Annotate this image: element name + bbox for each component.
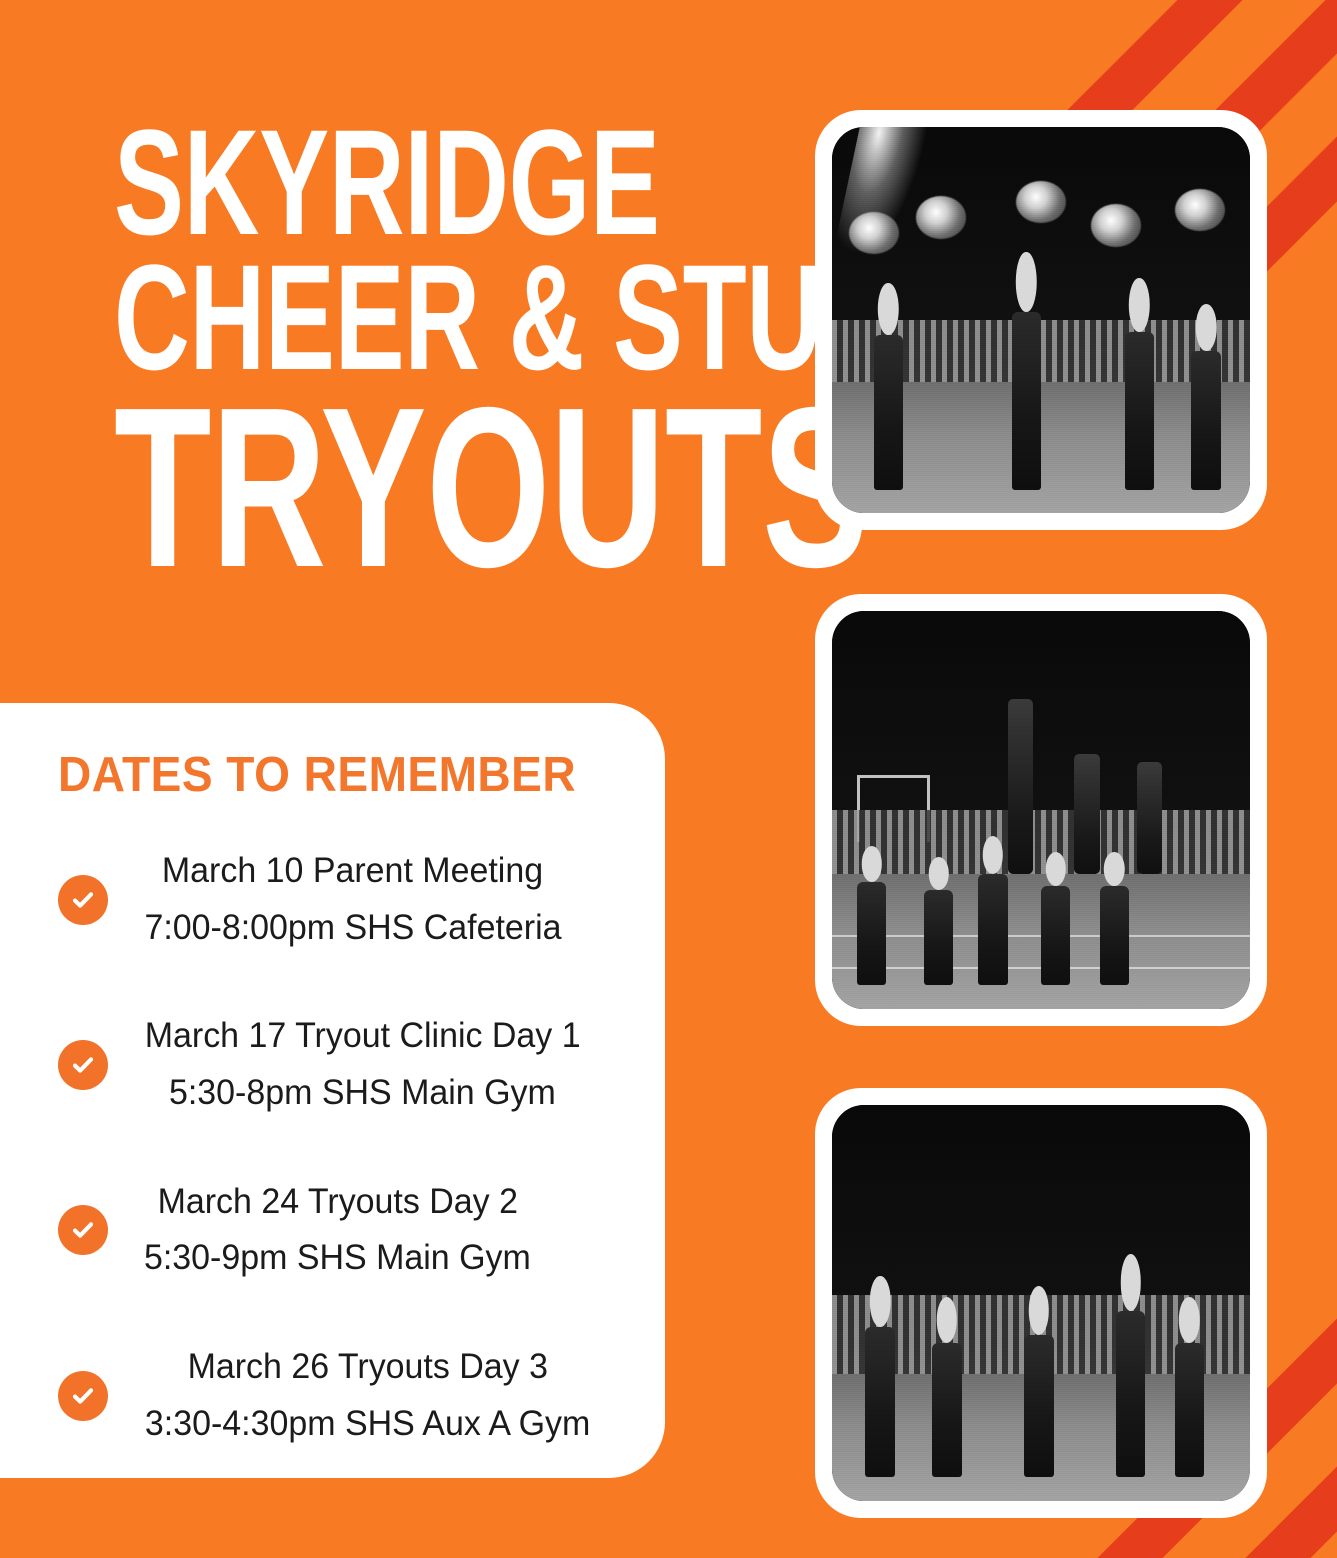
stunt-stack (1074, 754, 1099, 873)
date-line-primary: March 24 Tryouts Day 2 (157, 1174, 517, 1231)
cheerleader (924, 890, 953, 986)
date-line-secondary: 5:30-8pm SHS Main Gym (169, 1065, 556, 1122)
photo-cheer-sideline-stunt (832, 1105, 1250, 1501)
poster-headline: SKYRIDGE CHEER & STUNT TRYOUTS (0, 118, 760, 586)
crowd-row (832, 810, 1250, 874)
date-line-secondary: 5:30-9pm SHS Main Gym (144, 1230, 531, 1287)
cheerleader (1125, 332, 1154, 490)
dates-card: DATES TO REMEMBER March 10 Parent Meetin… (0, 703, 665, 1478)
date-line-primary: March 17 Tryout Clinic Day 1 (145, 1008, 581, 1065)
stunt-stack (1008, 699, 1033, 874)
pom-pom (1175, 189, 1225, 231)
check-icon (58, 875, 108, 925)
headline-line-1: SKYRIDGE (114, 118, 646, 247)
photo-cheer-stunt-pyramid (832, 611, 1250, 1009)
check-icon (58, 1040, 108, 1090)
headline-line-3: TRYOUTS (114, 390, 646, 586)
check-icon (58, 1205, 108, 1255)
cheerleader (1041, 886, 1070, 986)
check-icon (58, 1371, 108, 1421)
pom-pom (916, 196, 966, 238)
date-text: March 17 Tryout Clinic Day 1 5:30-8pm SH… (138, 1008, 587, 1121)
date-text: March 10 Parent Meeting 7:00-8:00pm SHS … (138, 843, 568, 956)
cheerleader (1191, 351, 1220, 490)
cheerleader-stunting (1024, 1335, 1053, 1478)
photo-frame-2 (815, 594, 1267, 1026)
list-item: March 17 Tryout Clinic Day 1 5:30-8pm SH… (58, 1008, 641, 1121)
poster-canvas: SKYRIDGE CHEER & STUNT TRYOUTS DATES TO … (0, 0, 1337, 1558)
dates-list: March 10 Parent Meeting 7:00-8:00pm SHS … (58, 843, 641, 1453)
pom-pom (1091, 204, 1141, 246)
cheerleader (1175, 1343, 1204, 1478)
photo-cheer-squad-pom-poms (832, 127, 1250, 513)
cheerleader (1100, 886, 1129, 986)
list-item: March 26 Tryouts Day 3 3:30-4:30pm SHS A… (58, 1339, 641, 1452)
date-line-secondary: 7:00-8:00pm SHS Cafeteria (144, 900, 561, 957)
photo-frame-3 (815, 1088, 1267, 1518)
cheerleader (865, 1327, 894, 1477)
date-text: March 26 Tryouts Day 3 3:30-4:30pm SHS A… (138, 1339, 597, 1452)
date-line-primary: March 26 Tryouts Day 3 (187, 1339, 547, 1396)
cheerleader (874, 335, 903, 489)
date-line-secondary: 3:30-4:30pm SHS Aux A Gym (145, 1396, 590, 1453)
dates-heading: DATES TO REMEMBER (58, 747, 606, 803)
cheerleader (1012, 312, 1041, 490)
date-text: March 24 Tryouts Day 2 5:30-9pm SHS Main… (138, 1174, 537, 1287)
cheerleader (857, 882, 886, 985)
cheerleader (978, 874, 1007, 985)
stunt-stack (1137, 762, 1162, 873)
cheerleader (932, 1343, 961, 1478)
photo-frame-1 (815, 110, 1267, 530)
pom-pom (849, 212, 899, 254)
date-line-primary: March 10 Parent Meeting (162, 843, 543, 900)
list-item: March 24 Tryouts Day 2 5:30-9pm SHS Main… (58, 1174, 641, 1287)
list-item: March 10 Parent Meeting 7:00-8:00pm SHS … (58, 843, 641, 956)
cheerleader-base (1116, 1311, 1145, 1477)
